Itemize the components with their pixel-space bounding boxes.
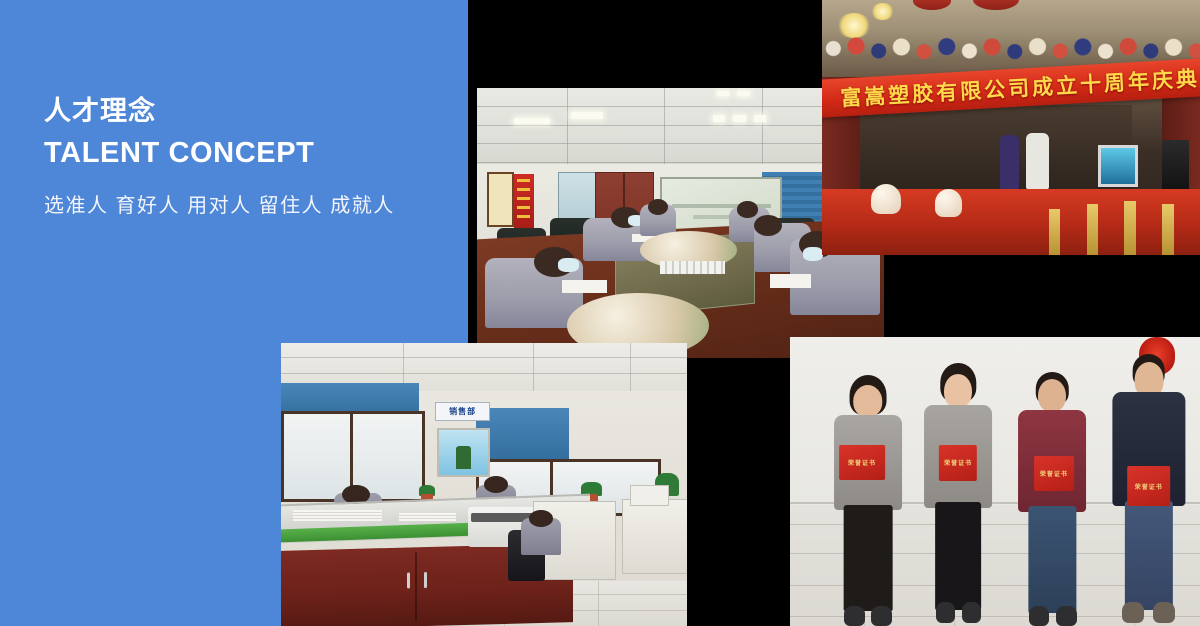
recipient-head <box>853 385 883 418</box>
certificate-text: 荣誉证书 <box>944 458 972 467</box>
worker-head <box>529 510 553 527</box>
stacked-documents <box>399 513 456 521</box>
recipient-jeans <box>1125 501 1173 610</box>
ceiling-lamp <box>871 3 894 21</box>
certificate-text: 荣誉证书 <box>1040 469 1068 478</box>
recipient-shoe <box>1029 606 1050 626</box>
gold-decoration <box>1049 209 1060 255</box>
stage-speaker <box>1162 140 1188 191</box>
ceiling-light <box>754 115 766 122</box>
certificate-text: 荣誉证书 <box>848 458 876 467</box>
stage-backdrop <box>860 105 1132 192</box>
recipient-head <box>1038 379 1066 412</box>
wall-poster <box>437 428 490 477</box>
ceiling-light <box>571 112 604 119</box>
honor-certificate: 荣誉证书 <box>1034 456 1074 492</box>
recipient-shoe <box>1122 602 1144 624</box>
stage-display <box>1098 145 1138 187</box>
projector-subtext-line <box>693 215 733 218</box>
recipient-trousers <box>935 502 981 610</box>
desk-monitor <box>630 485 669 507</box>
celebration-scene: 富嵩塑胶有限公司成立十周年庆典 <box>822 0 1200 255</box>
water-bottles <box>660 261 725 275</box>
ceiling-light <box>514 118 551 125</box>
cubicle-partition <box>622 499 687 575</box>
photo-anniversary-celebration: 富嵩塑胶有限公司成立十周年庆典 <box>822 0 1200 255</box>
recipient-shoe <box>1056 606 1077 626</box>
page-title-english: TALENT CONCEPT <box>44 136 444 171</box>
page-subtitle: 选准人 育好人 用对人 留住人 成就人 <box>44 189 444 218</box>
recipient-shoe <box>844 606 865 626</box>
talent-concept-banner: 人才理念 TALENT CONCEPT 选准人 育好人 用对人 留住人 成就人 <box>0 0 1200 626</box>
gold-decoration <box>1124 201 1135 255</box>
award-recipient: 荣誉证书 <box>921 363 995 626</box>
certificate-text: 荣誉证书 <box>1135 482 1163 491</box>
honor-certificate: 荣誉证书 <box>1127 466 1171 507</box>
balloon-arch <box>822 33 1200 64</box>
award-scene: 荣誉证书 荣誉证书 <box>790 337 1200 626</box>
ceiling-light <box>733 115 745 122</box>
honor-certificate: 荣誉证书 <box>839 445 885 480</box>
face-mask <box>558 258 578 272</box>
award-recipient: 荣誉证书 <box>831 375 905 626</box>
employee-head <box>737 201 757 217</box>
recipient-head <box>944 374 972 408</box>
department-sign-label: 销售部 <box>449 406 476 417</box>
exam-paper <box>562 280 607 294</box>
page-title-chinese: 人才理念 <box>44 94 444 129</box>
recipient-jeans <box>1029 506 1076 613</box>
ceiling-light <box>737 91 749 96</box>
photo-sales-office: 销售部 <box>281 343 687 626</box>
recipient-shoe <box>1153 602 1175 624</box>
headline-block: 人才理念 TALENT CONCEPT 选准人 育好人 用对人 留住人 成就人 <box>44 94 444 218</box>
gold-decoration <box>1087 204 1098 255</box>
stacked-documents <box>293 510 382 521</box>
wall-honor-banner <box>514 174 534 228</box>
ceiling-light <box>717 91 729 96</box>
recipient-trousers <box>844 505 893 611</box>
department-sign: 销售部 <box>435 402 490 421</box>
award-recipient: 荣誉证书 <box>1016 372 1090 626</box>
poster-figure <box>456 446 471 470</box>
recipient-shoe <box>962 602 981 623</box>
exam-paper <box>770 274 811 288</box>
recipient-shoe <box>936 602 955 623</box>
face-mask <box>803 247 823 261</box>
honor-certificate: 荣誉证书 <box>939 445 977 482</box>
flower-vase <box>871 184 901 215</box>
employee-head <box>648 199 668 215</box>
flower-vase <box>935 189 961 217</box>
performer-left <box>1000 135 1019 189</box>
office-scene: 销售部 <box>281 343 687 626</box>
wall-certificate <box>487 172 513 227</box>
ceiling-light <box>713 115 725 122</box>
performer-right <box>1026 133 1049 189</box>
photo-award-ceremony: 荣誉证书 荣誉证书 <box>790 337 1200 626</box>
gold-decoration <box>1162 204 1173 255</box>
award-recipient: 荣誉证书 <box>1110 354 1188 626</box>
recipient-shoe <box>871 606 892 626</box>
